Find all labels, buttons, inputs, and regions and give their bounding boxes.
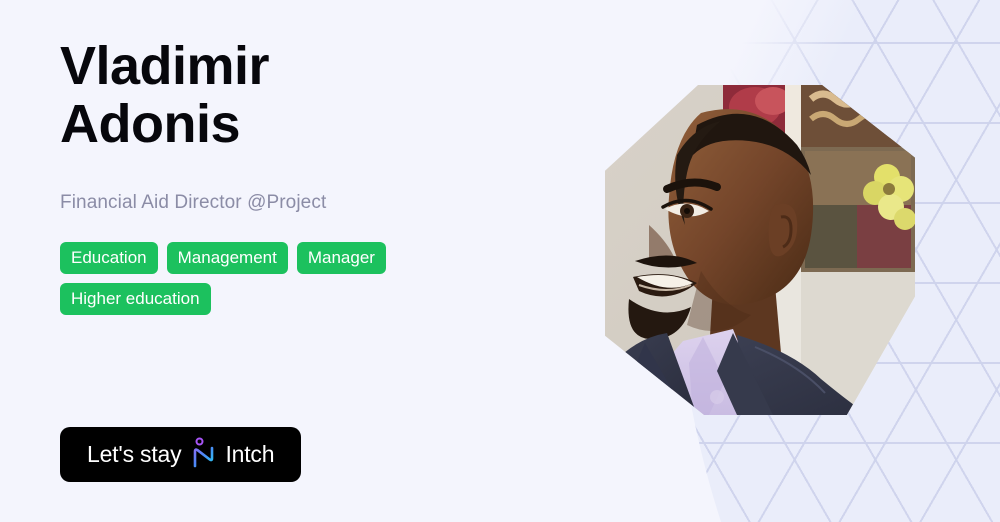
tag-chip[interactable]: Higher education — [60, 283, 211, 315]
intch-n-logo-icon — [190, 437, 216, 472]
profile-content: Vladimir Adonis Financial Aid Director @… — [60, 38, 580, 315]
tag-chip[interactable]: Education — [60, 242, 158, 274]
tag-chip[interactable]: Management — [167, 242, 288, 274]
cta-label-after: Intch — [225, 441, 274, 468]
lets-stay-intch-button[interactable]: Let's stay Intch — [60, 427, 301, 482]
profile-photo — [605, 85, 915, 415]
cta-label-before: Let's stay — [87, 441, 181, 468]
tag-chip[interactable]: Manager — [297, 242, 386, 274]
page-title: Vladimir Adonis — [60, 38, 580, 154]
tag-list: Education Management Manager Higher educ… — [60, 242, 490, 315]
profile-card: Vladimir Adonis Financial Aid Director @… — [0, 0, 1000, 522]
profile-headline: Financial Aid Director @Project — [60, 192, 580, 214]
